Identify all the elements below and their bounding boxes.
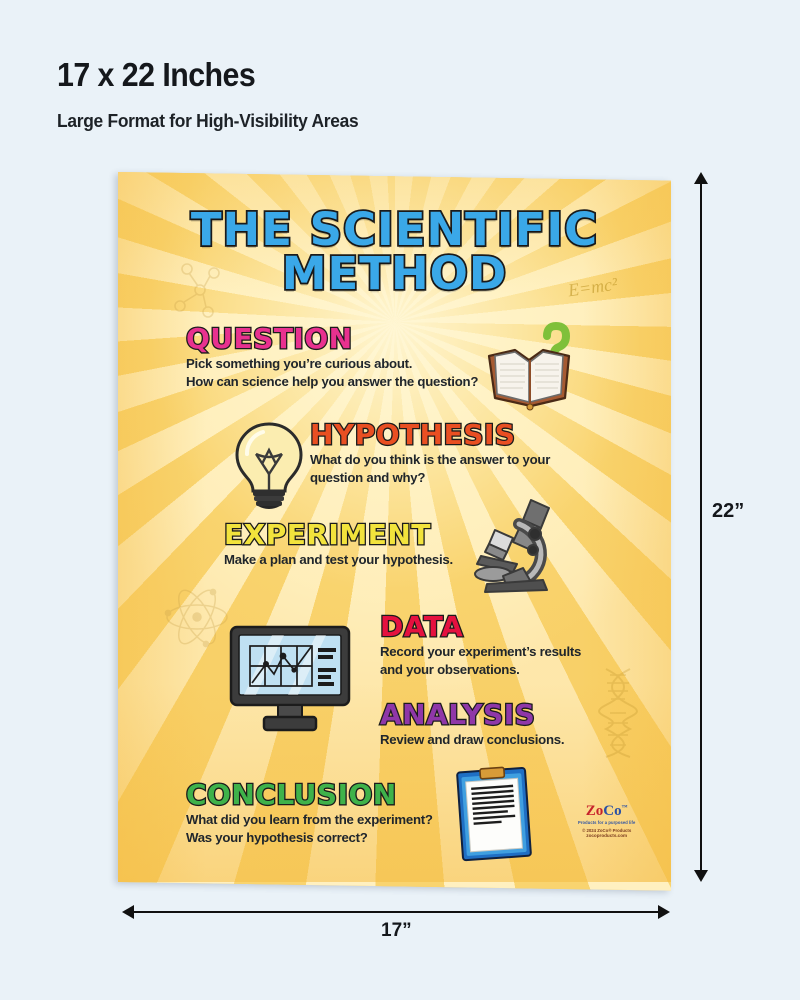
step-question: QUESTION Pick something you’re curious a… <box>186 324 478 390</box>
lightbulb-icon <box>228 420 310 510</box>
brand-tagline: Products for a purposed life <box>578 820 635 825</box>
step-analysis-body: Review and draw conclusions. <box>380 731 564 748</box>
microscope-icon <box>473 494 575 594</box>
step-data-heading: DATA <box>380 612 581 641</box>
monitor-chart-icon <box>228 624 352 734</box>
brand-zo: Zo <box>586 803 604 819</box>
poster-title-line-1: THE SCIENTIFIC <box>118 208 671 252</box>
brand-logo: ZoCo™ Products for a purposed life © 202… <box>578 804 635 838</box>
poster-title-line-2: METHOD <box>118 252 671 296</box>
step-conclusion-body: What did you learn from the experiment? … <box>186 811 433 845</box>
atom-doodle-icon <box>162 582 232 652</box>
open-book-question-icon <box>483 320 579 412</box>
step-question-heading: QUESTION <box>186 324 478 353</box>
step-hypothesis-heading: HYPOTHESIS <box>310 420 550 449</box>
brand-website: zocoproducts.com <box>578 833 635 838</box>
step-experiment-body: Make a plan and test your hypothesis. <box>224 551 453 568</box>
step-data: DATA Record your experiment’s results an… <box>380 612 581 678</box>
dimension-label-height: 22” <box>712 500 744 523</box>
step-data-body: Record your experiment’s results and you… <box>380 643 581 677</box>
brand-trademark: ™ <box>622 805 628 811</box>
step-experiment: EXPERIMENT Make a plan and test your hyp… <box>224 520 453 569</box>
step-hypothesis-body: What do you think is the answer to your … <box>310 451 550 485</box>
step-analysis-heading: ANALYSIS <box>380 700 564 729</box>
dna-doodle-icon <box>596 667 642 759</box>
brand-wordmark: ZoCo™ <box>578 804 635 819</box>
poster-title: THE SCIENTIFIC METHOD <box>118 208 671 296</box>
dimension-line-horizontal <box>130 911 668 913</box>
page-subtitle: Large Format for High-Visibility Areas <box>57 110 358 132</box>
dimension-label-width: 17” <box>381 920 412 942</box>
brand-co: Co <box>603 803 621 819</box>
screenshot-root: 17 x 22 Inches Large Format for High-Vis… <box>0 0 800 1000</box>
dimension-arrow-down-icon <box>694 870 708 882</box>
step-conclusion: CONCLUSION What did you learn from the e… <box>186 780 433 846</box>
step-hypothesis: HYPOTHESIS What do you think is the answ… <box>310 420 550 486</box>
page-title: 17 x 22 Inches <box>57 56 255 94</box>
dimension-line-vertical <box>700 178 702 880</box>
clipboard-icon <box>453 763 538 864</box>
step-analysis: ANALYSIS Review and draw conclusions. <box>380 700 564 749</box>
step-conclusion-heading: CONCLUSION <box>186 780 433 809</box>
step-experiment-heading: EXPERIMENT <box>224 520 453 549</box>
dimension-arrow-right-icon <box>658 905 670 919</box>
poster-image: E=mc² THE SCIENTIFIC METHOD QUESTION Pic… <box>118 172 671 891</box>
step-question-body: Pick something you’re curious about. How… <box>186 355 478 389</box>
